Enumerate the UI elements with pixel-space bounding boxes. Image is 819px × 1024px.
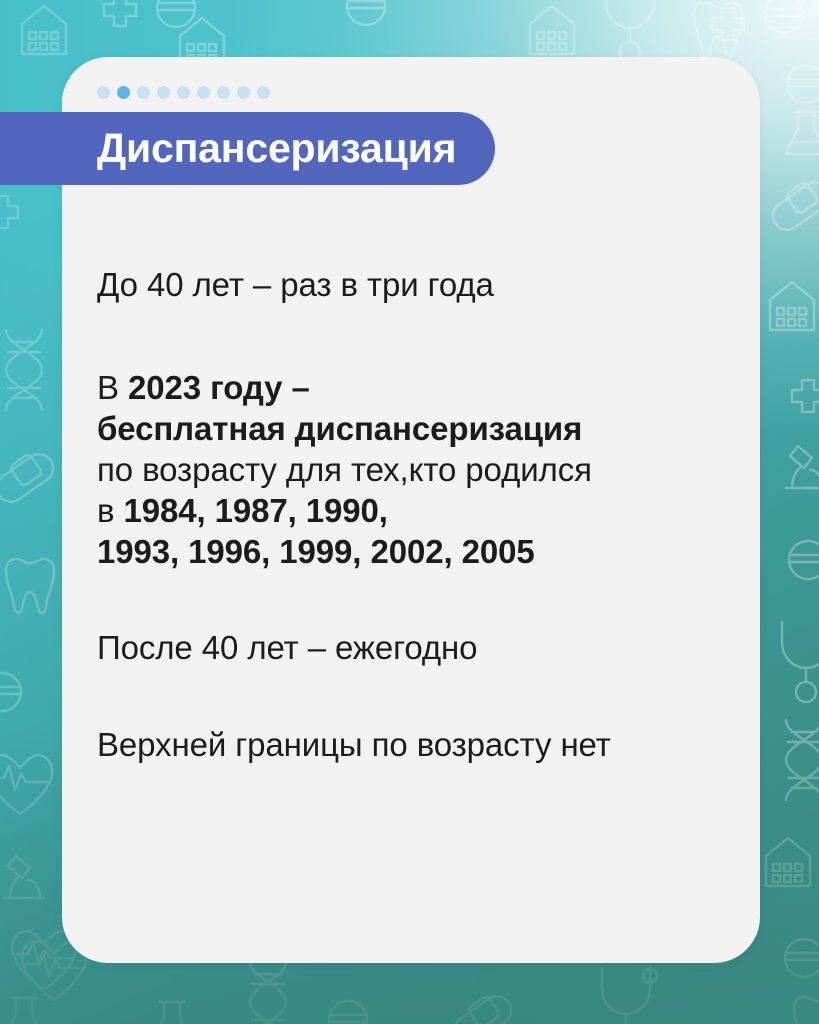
pagination-dot-4[interactable] bbox=[157, 86, 170, 99]
pagination-dot-2[interactable] bbox=[117, 86, 130, 99]
text-line-4: по возрасту для тех,кто родился bbox=[97, 450, 717, 491]
text-line-5-prefix: в bbox=[97, 492, 124, 529]
paragraph-over-40: После 40 лет – ежегодно bbox=[97, 628, 717, 669]
pagination-dot-5[interactable] bbox=[177, 86, 190, 99]
text-line-2-bold: 2023 году – bbox=[128, 369, 310, 406]
pagination-dots[interactable] bbox=[97, 86, 270, 99]
title-banner: Диспансеризация bbox=[0, 112, 495, 185]
text-line-7: После 40 лет – ежегодно bbox=[97, 628, 717, 669]
text-line-5-bold: 1984, 1987, 1990, bbox=[124, 492, 388, 529]
paragraph-under-40: До 40 лет – раз в три года bbox=[97, 265, 717, 306]
page-title: Диспансеризация bbox=[97, 128, 456, 169]
text-line-3-bold: бесплатная диспансеризация bbox=[97, 410, 582, 447]
text-line-1: До 40 лет – раз в три года bbox=[97, 265, 717, 306]
text-line-2-prefix: В bbox=[97, 369, 128, 406]
card-body: До 40 лет – раз в три года В 2023 году –… bbox=[97, 232, 717, 799]
pagination-dot-8[interactable] bbox=[237, 86, 250, 99]
pagination-dot-3[interactable] bbox=[137, 86, 150, 99]
pagination-dot-6[interactable] bbox=[197, 86, 210, 99]
text-line-8: Верхней границы по возрасту нет bbox=[97, 725, 717, 766]
text-line-5: в 1984, 1987, 1990, bbox=[97, 491, 717, 532]
text-line-6: 1993, 1996, 1999, 2002, 2005 bbox=[97, 532, 717, 573]
pagination-dot-9[interactable] bbox=[257, 86, 270, 99]
paragraph-year-2023: В 2023 году – бесплатная диспансеризация… bbox=[97, 368, 717, 573]
pagination-dot-7[interactable] bbox=[217, 86, 230, 99]
text-line-6-bold: 1993, 1996, 1999, 2002, 2005 bbox=[97, 533, 535, 570]
pagination-dot-1[interactable] bbox=[97, 86, 110, 99]
text-line-2: В 2023 году – bbox=[97, 368, 717, 409]
paragraph-no-upper-limit: Верхней границы по возрасту нет bbox=[97, 725, 717, 766]
poster-slide: Диспансеризация До 40 лет – раз в три го… bbox=[0, 0, 819, 1024]
text-line-3: бесплатная диспансеризация bbox=[97, 409, 717, 450]
